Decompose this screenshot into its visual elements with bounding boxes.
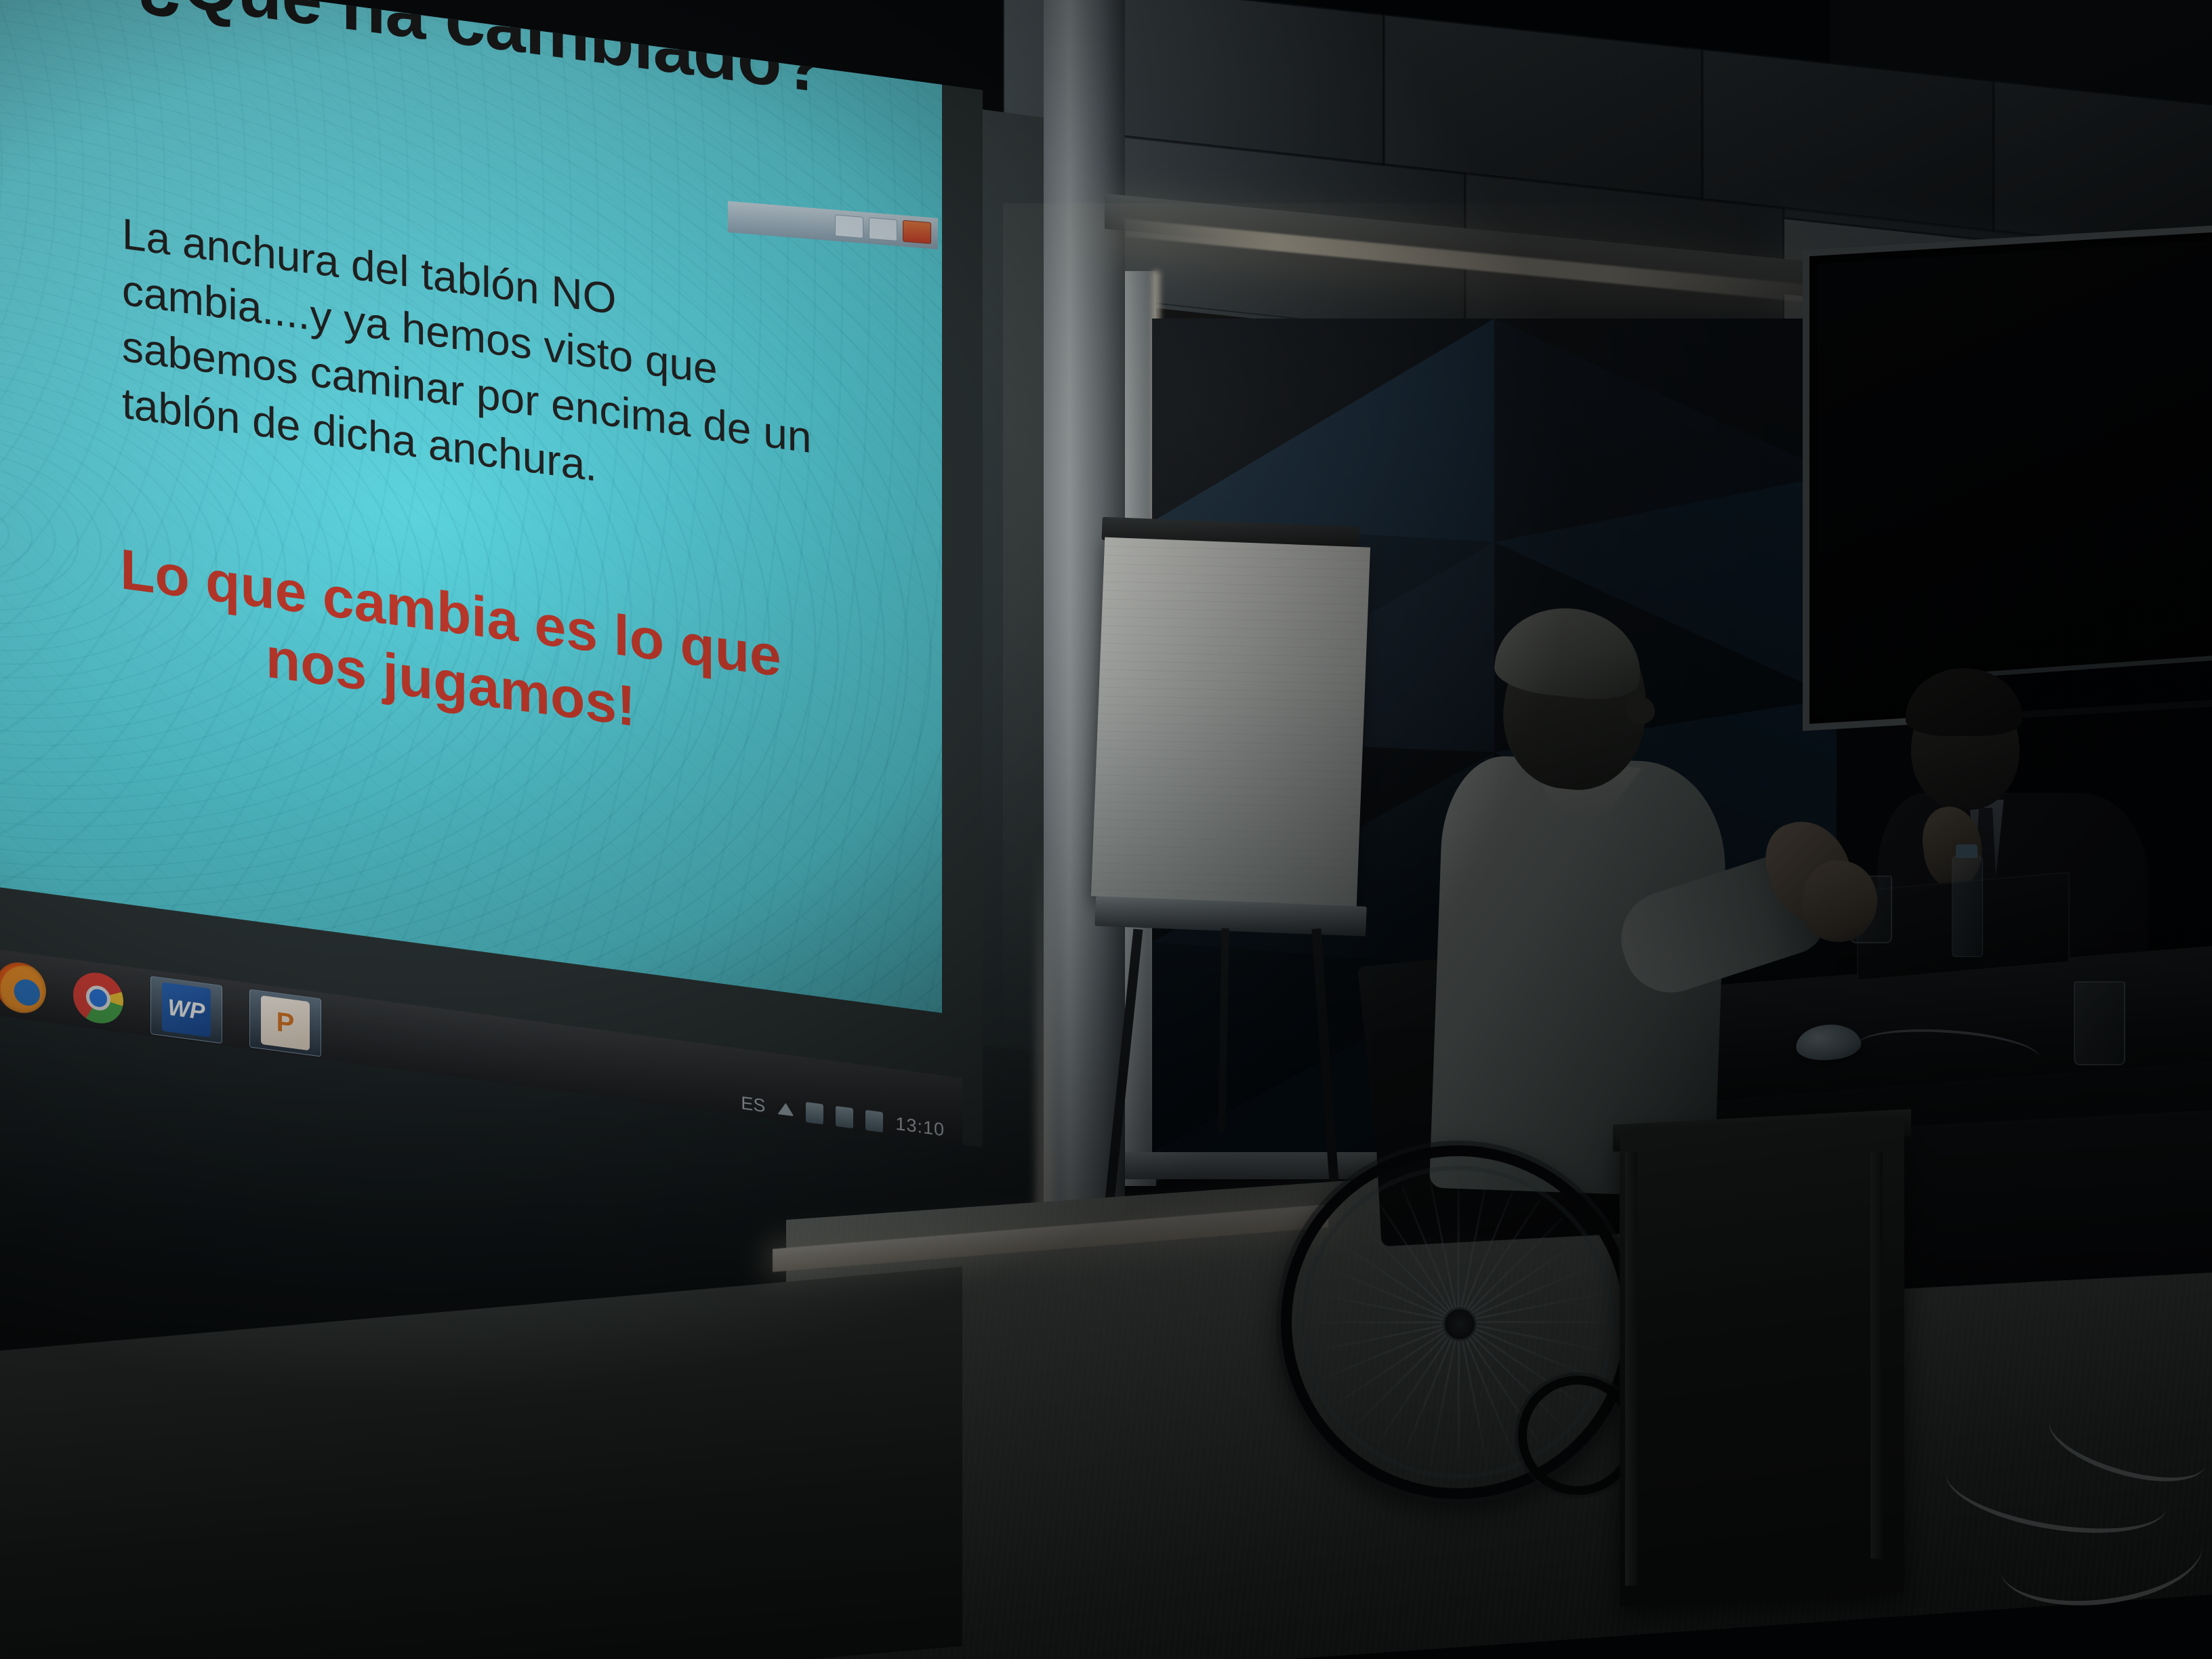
meeting-room-scene: ¿Qué ha cambiado? La anchura del tablón … <box>0 0 2212 1659</box>
wordperfect-icon: WP <box>162 982 211 1038</box>
chrome-icon[interactable] <box>73 970 123 1027</box>
wheel-hub <box>1443 1307 1477 1341</box>
wheel-spoke <box>1458 1322 1460 1469</box>
tv-screen <box>1818 241 2212 716</box>
taskbar-clock[interactable]: 13:10 <box>895 1113 945 1141</box>
flipchart <box>1098 522 1382 1267</box>
powerpoint-icon: P <box>261 996 310 1051</box>
side-table-leg <box>1870 1152 1883 1559</box>
wheel-spoke <box>1354 1322 1459 1427</box>
language-indicator[interactable]: ES <box>741 1092 765 1117</box>
bottle-cap <box>1956 844 1978 858</box>
network-icon[interactable] <box>806 1102 823 1124</box>
firefox-icon[interactable] <box>0 960 46 1017</box>
show-hidden-icons-arrow[interactable] <box>777 1102 794 1116</box>
side-table-leg <box>1625 1152 1637 1586</box>
flipchart-leg <box>1218 928 1229 1132</box>
maximize-button[interactable] <box>869 218 897 241</box>
slide-highlight-text: Lo que cambia es lo que nos jugamos! <box>102 531 800 763</box>
minimize-button[interactable] <box>835 215 863 239</box>
water-bottle <box>1952 855 1983 957</box>
volume-icon[interactable] <box>836 1105 853 1128</box>
projected-desktop: ¿Qué ha cambiado? La anchura del tablón … <box>0 0 983 1147</box>
wall-tv <box>1803 224 2212 731</box>
taskbar-button-wordperfect[interactable]: WP <box>150 976 222 1044</box>
wheel-spoke <box>1458 1175 1460 1322</box>
flipchart-leg <box>1103 928 1143 1219</box>
presentation-slide: ¿Qué ha cambiado? La anchura del tablón … <box>0 0 942 1013</box>
slide-body-text: La anchura del tablón NO cambia....y ya … <box>122 205 813 523</box>
flipchart-paper <box>1091 537 1370 907</box>
wheel-spoke <box>1311 1322 1458 1324</box>
wheel-spoke <box>1458 1218 1563 1323</box>
close-button[interactable] <box>903 220 931 244</box>
taskbar-button-powerpoint[interactable]: P <box>249 989 321 1057</box>
side-table <box>1620 1118 1904 1607</box>
wheel-spoke <box>1354 1218 1459 1323</box>
presenter-nose <box>1626 697 1655 724</box>
wheel-spoke <box>1458 1322 1605 1324</box>
drinking-glass <box>2074 981 2125 1065</box>
flipchart-leg <box>1311 928 1340 1213</box>
battery-icon[interactable] <box>865 1109 883 1132</box>
attendee-hair <box>1906 668 2022 736</box>
